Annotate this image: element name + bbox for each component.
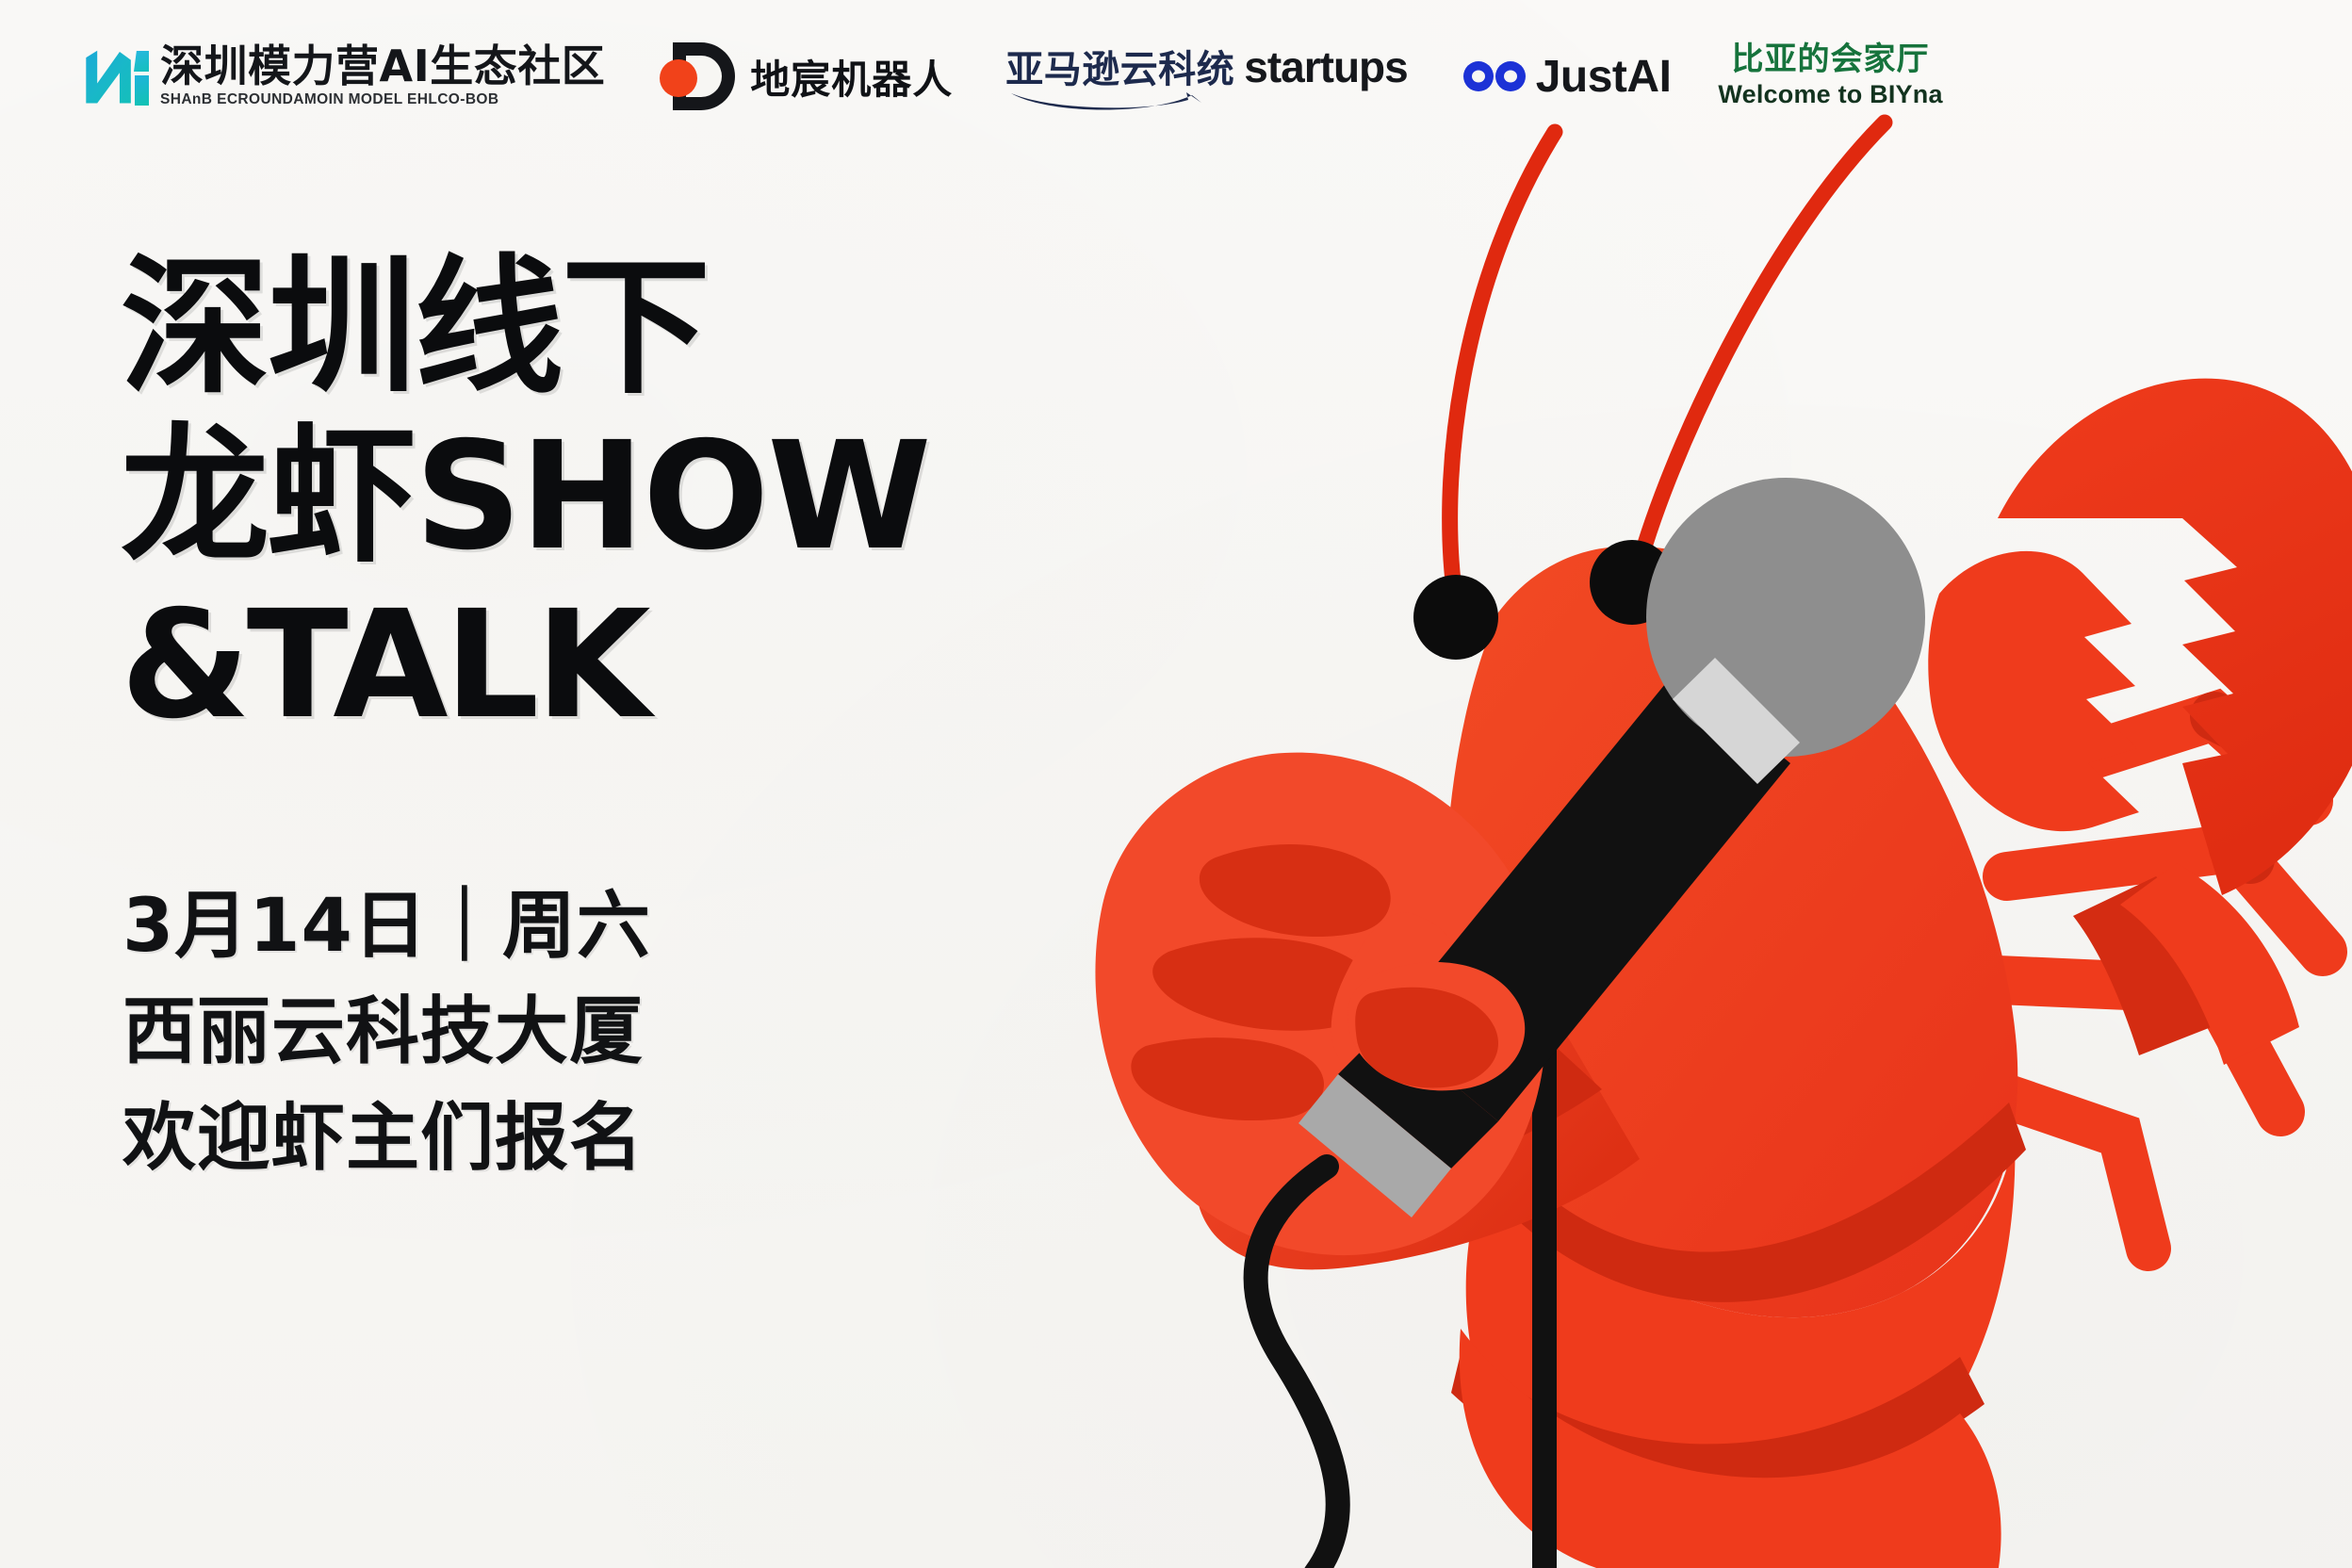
sponsor-name-cn: 深圳模力营AI生态社区	[160, 44, 605, 89]
infinity-icon	[1461, 57, 1528, 95]
eye-left	[1413, 575, 1498, 660]
d-dot-monogram-icon	[660, 41, 735, 112]
event-details: 3月14日｜周六 西丽云科技大厦 欢迎虾主们报名	[122, 884, 651, 1201]
poster-canvas: 深圳模力营AI生态社区 SHAnB ECROUNDAMOIN MODEL EHL…	[0, 0, 2352, 1568]
headline-line-1: 深圳线下	[121, 253, 930, 404]
headline-line-3: &TALK	[121, 590, 930, 742]
sponsor-logo-shenzhen-moliying[interactable]: 深圳模力营AI生态社区 SHAnB ECROUNDAMOIN MODEL EHL…	[85, 34, 605, 119]
event-date: 3月14日｜周六	[122, 884, 651, 969]
poster-headline: 深圳线下 龙虾SHOW &TALK	[121, 253, 930, 759]
sponsor-name-en: JustAI	[1536, 51, 1672, 103]
sponsor-name-en: startups	[1244, 41, 1407, 92]
event-venue: 西丽云科技大厦	[122, 989, 651, 1074]
lobster-illustration	[1055, 104, 2352, 1568]
sponsor-name-cn: 比亚的会家厅	[1732, 43, 1930, 77]
sponsor-name-en: SHAnB ECROUNDAMOIN MODEL EHLCO-BOB	[160, 91, 605, 108]
sponsor-logo-dichen-robotics[interactable]: 地宸机器人	[660, 34, 953, 119]
sponsor-name-cn: 地宸机器人	[750, 48, 953, 106]
n-monogram-icon	[85, 47, 147, 106]
event-cta: 欢迎虾主们报名	[122, 1096, 651, 1181]
headline-line-2: 龙虾SHOW	[121, 421, 930, 573]
antenna-left	[1450, 132, 1555, 603]
sponsor-name-cn: 亚马逊云科统	[1005, 39, 1234, 93]
